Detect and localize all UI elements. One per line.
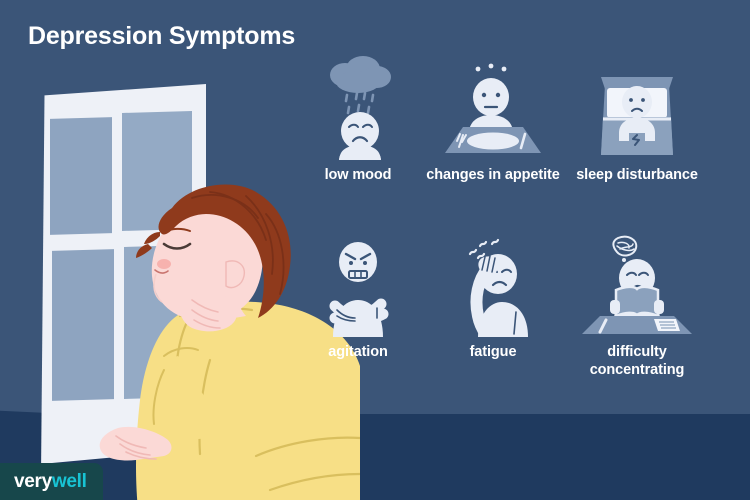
logo-text-very: very — [14, 471, 52, 492]
angry-crossed-arms-person-icon — [283, 232, 433, 337]
open-eye-right — [641, 98, 645, 102]
symptom-low-mood: low mood — [283, 55, 433, 184]
symptom-label: changes in appetite — [418, 166, 568, 184]
verywell-logo[interactable]: verywell — [0, 463, 103, 500]
rain-drops — [346, 93, 373, 113]
cheek-blush — [157, 259, 171, 269]
symptom-difficulty-concentrating: difficulty concentrating — [562, 232, 712, 379]
symptom-label: fatigue — [418, 343, 568, 361]
open-eye-left — [629, 98, 633, 102]
symptom-label: sleep disturbance — [562, 166, 712, 184]
sleepless-head — [622, 86, 652, 118]
scribble-thought-bubble — [613, 237, 636, 262]
empty-plate-table-person-icon — [418, 55, 568, 160]
eye-left — [349, 261, 353, 265]
symptom-label: low mood — [283, 166, 433, 184]
empty-plate — [467, 133, 519, 150]
angry-head — [339, 242, 377, 282]
symptom-agitation: agitation — [283, 232, 433, 361]
hand-right — [654, 300, 664, 314]
raised-arm — [476, 268, 488, 337]
symptom-changes-in-appetite: changes in appetite — [418, 55, 568, 184]
symptom-sleep-disturbance: sleep disturbance — [562, 55, 712, 184]
hair-wisp-2 — [136, 244, 152, 258]
eye-right — [496, 93, 500, 97]
eye-left — [482, 93, 486, 97]
thought-dots — [476, 64, 507, 72]
infographic-canvas: Depression Symptoms — [0, 0, 750, 500]
hair-wisp-1 — [144, 232, 160, 244]
eye-right — [363, 261, 367, 265]
person-awake-in-bed-icon — [562, 55, 712, 160]
sad-person-figure — [338, 112, 382, 160]
symptom-fatigue: fatigue — [418, 232, 568, 361]
tired-head-in-hand-person-icon — [418, 232, 568, 337]
symptom-label: agitation — [283, 343, 433, 361]
logo-text-well: well — [52, 471, 87, 492]
symptom-label: difficulty concentrating — [562, 343, 712, 379]
rain-cloud-sad-person-icon — [283, 55, 433, 160]
rain-cloud — [330, 56, 391, 93]
held-book — [616, 287, 658, 316]
hand-left — [610, 300, 620, 314]
person-at-table-figure — [469, 78, 513, 133]
page-title: Depression Symptoms — [28, 22, 295, 51]
scribble-thought-reading-person-icon — [562, 232, 712, 337]
